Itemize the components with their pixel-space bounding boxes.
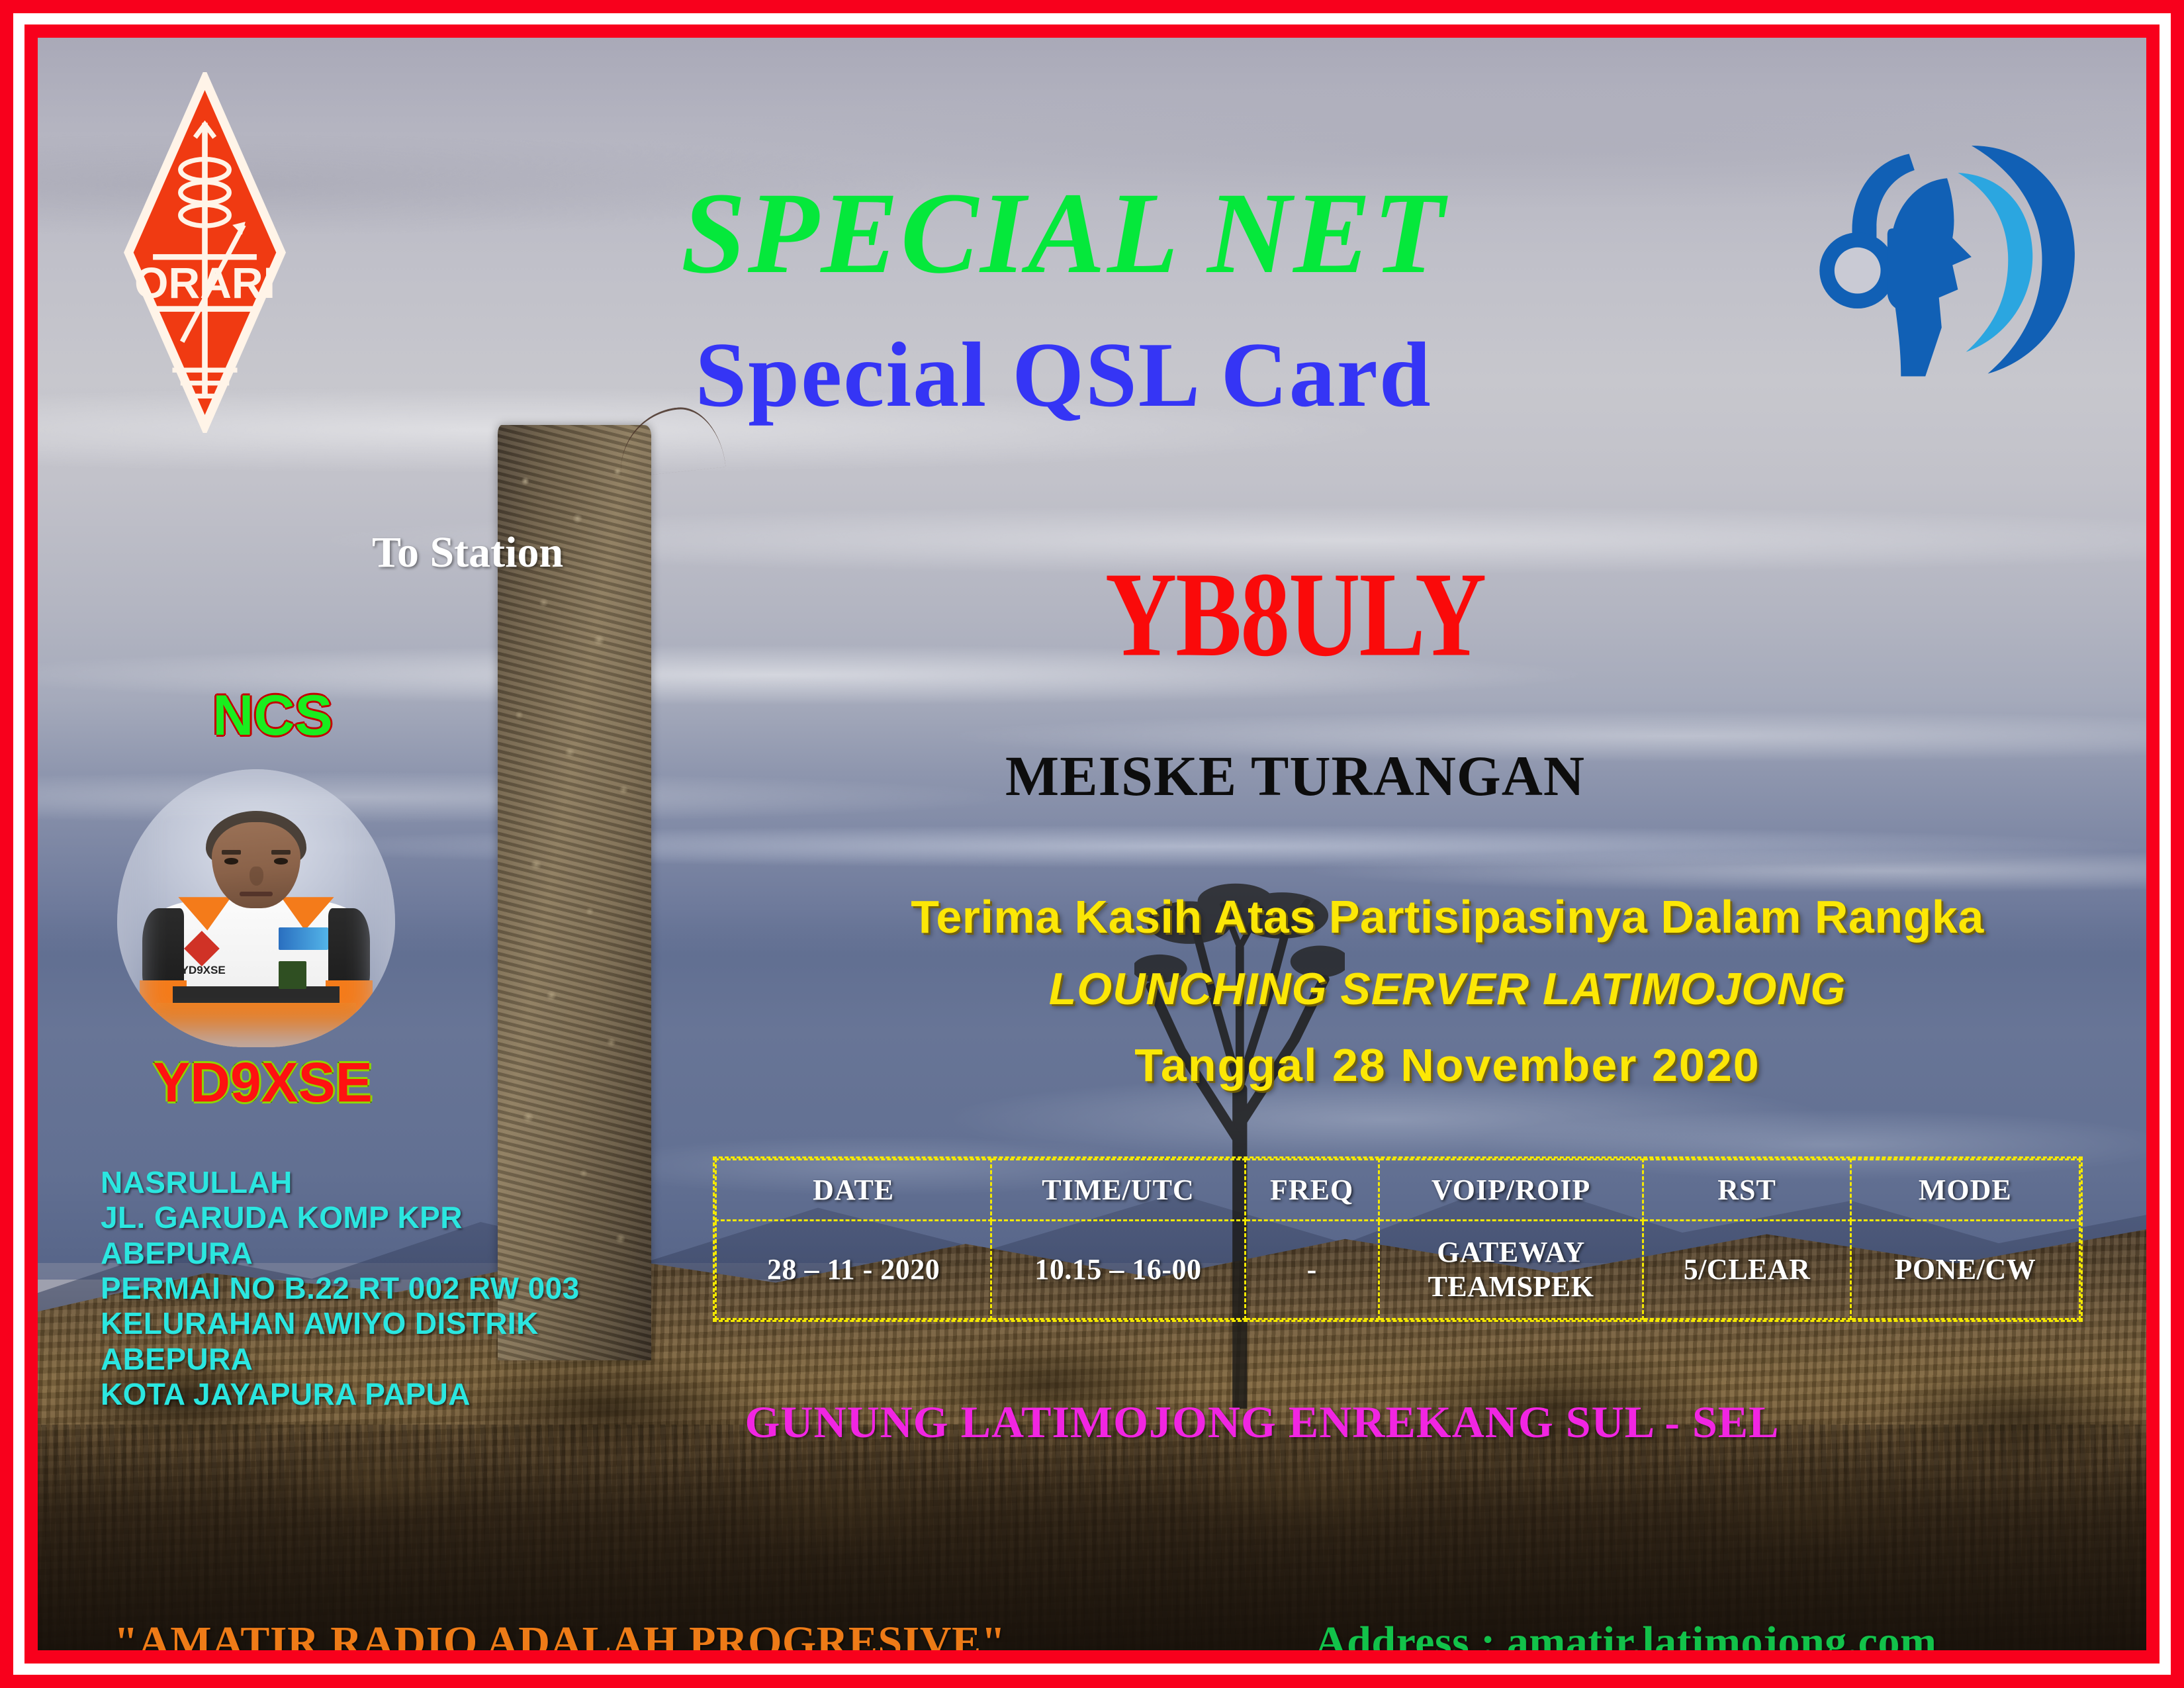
ncs-label: NCS [107, 683, 438, 749]
column-header-time: TIME/UTC [991, 1160, 1245, 1221]
ncs-callsign: YD9XSE [94, 1051, 432, 1115]
qso-log-table: DATE TIME/UTC FREQ VOIP/ROIP RST MODE [713, 1156, 2083, 1322]
address-line: JL. GARUDA KOMP KPR [101, 1200, 670, 1235]
location-caption: GUNUNG LATIMOJONG ENREKANG SUL - SEL [633, 1396, 1891, 1448]
station-address: NASRULLAH JL. GARUDA KOMP KPR ABEPURA PE… [101, 1165, 670, 1413]
cell-voip-roip: GATEWAY TEAMSPEK [1379, 1221, 1643, 1319]
page-title: SPECIAL NET [435, 175, 1692, 292]
column-header-voip-roip: VOIP/ROIP [1379, 1160, 1643, 1221]
thanks-line-3: Tanggal 28 November 2020 [792, 1039, 2103, 1092]
table-header-row: DATE TIME/UTC FREQ VOIP/ROIP RST MODE [716, 1160, 2080, 1221]
column-header-mode: MODE [1850, 1160, 2079, 1221]
page-subtitle: Special QSL Card [435, 329, 1692, 422]
ncs-operator-photo: YD9XSE [117, 769, 395, 1047]
qsl-card-white-gap: ORARI [13, 13, 2171, 1675]
address-line: ABEPURA [101, 1236, 670, 1271]
column-header-rst: RST [1643, 1160, 1850, 1221]
cell-rst: 5/CLEAR [1643, 1221, 1850, 1319]
address-line: KOTA JAYAPURA PAPUA [101, 1377, 670, 1412]
station-callsign: YB8ULY [865, 554, 1725, 675]
address-line: ABEPURA [101, 1342, 670, 1377]
column-header-date: DATE [716, 1160, 991, 1221]
cell-freq: - [1245, 1221, 1379, 1319]
footer-web-address: Address : amatir.latimojong.com [1315, 1617, 1936, 1650]
to-station-label: To Station [372, 528, 563, 578]
thanks-line-2: LOUNCHING SERVER LATIMOJONG [792, 963, 2103, 1015]
cell-mode: PONE/CW [1850, 1221, 2079, 1319]
qsl-card-photo-background: ORARI [38, 38, 2146, 1650]
footer-slogan: "AMATIR RADIO ADALAH PROGRESIVE" [114, 1617, 1006, 1650]
qsl-card-inner-border: ORARI [24, 24, 2160, 1664]
address-line: PERMAI NO B.22 RT 002 RW 003 [101, 1271, 670, 1306]
address-line: NASRULLAH [101, 1165, 670, 1200]
cell-time: 10.15 – 16-00 [991, 1221, 1245, 1319]
headphone-head-logo [1811, 124, 2083, 382]
address-line: KELURAHAN AWIYO DISTRIK [101, 1306, 670, 1341]
orari-logo-text: ORARI [134, 259, 275, 308]
column-header-freq: FREQ [1245, 1160, 1379, 1221]
operator-name: MEISKE TURANGAN [832, 743, 1758, 809]
thanks-line-1: Terima Kasih Atas Partisipasinya Dalam R… [792, 890, 2103, 943]
cell-date: 28 – 11 - 2020 [716, 1221, 991, 1319]
orari-logo: ORARI [124, 72, 286, 433]
qsl-card-outer-border: ORARI [0, 0, 2184, 1688]
table-row: 28 – 11 - 2020 10.15 – 16-00 - GATEWAY T… [716, 1221, 2080, 1319]
